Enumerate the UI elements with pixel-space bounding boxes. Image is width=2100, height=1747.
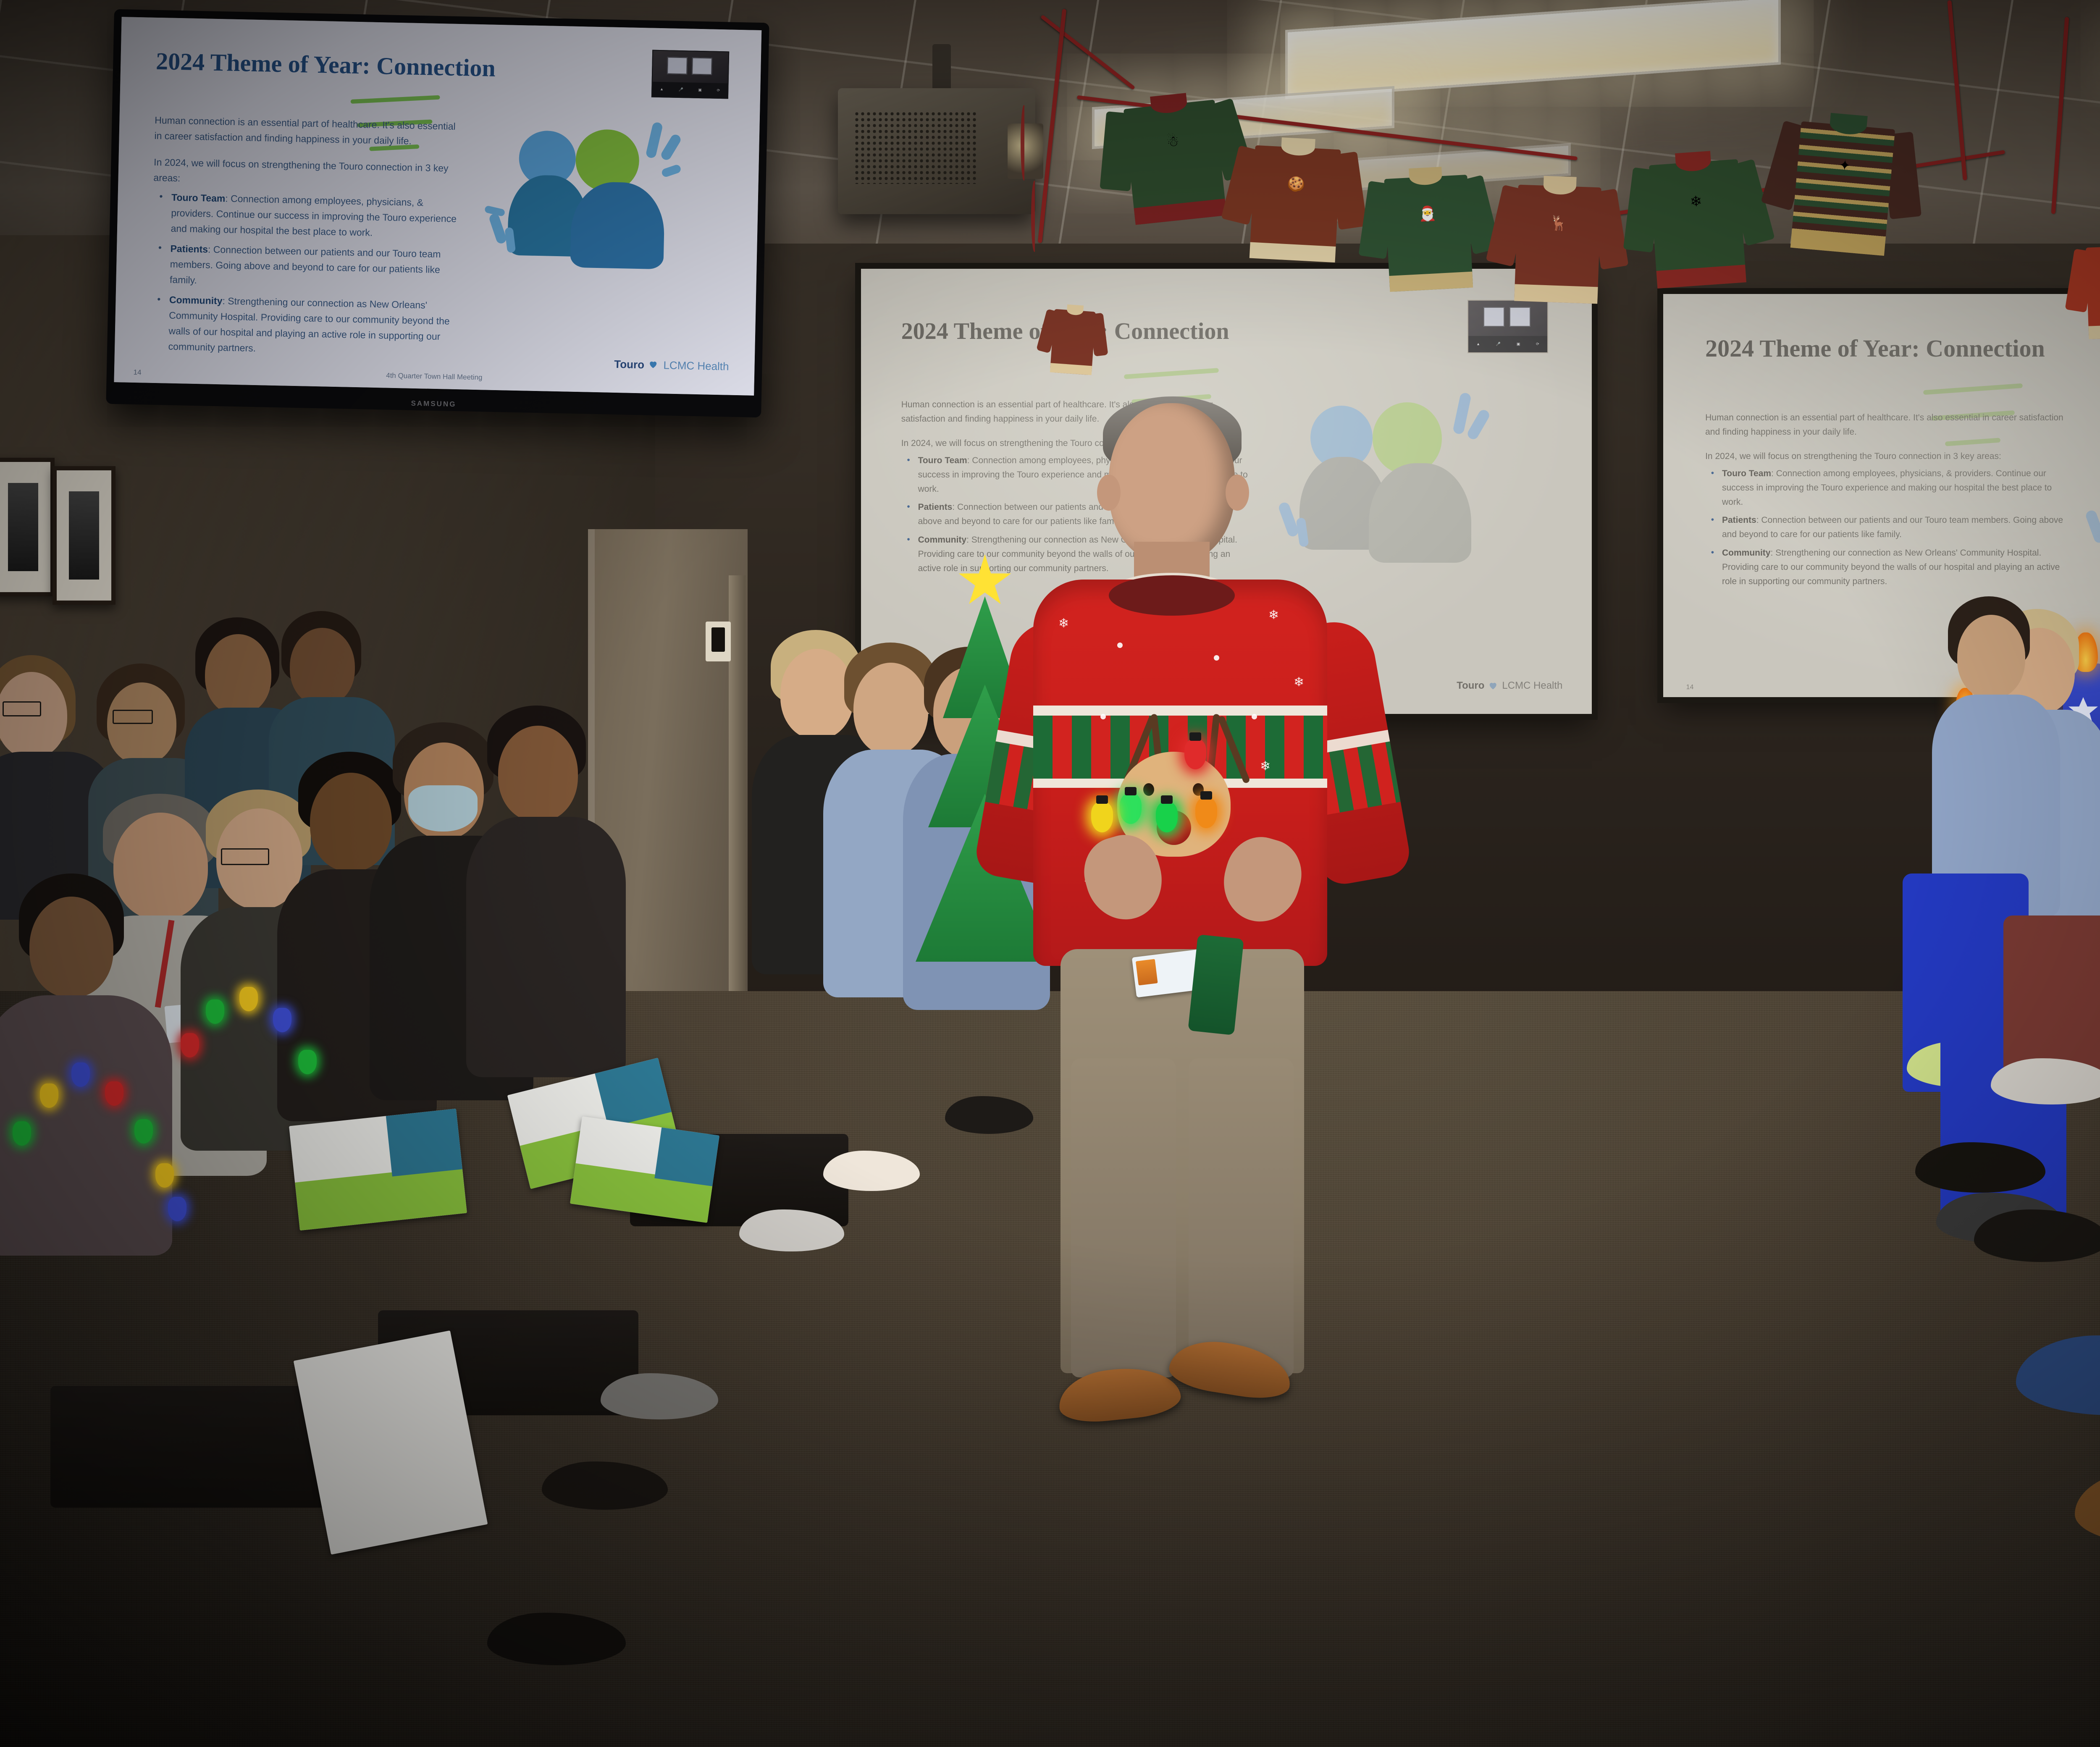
- heart-icon: [1488, 680, 1499, 691]
- touro-lcmc-logo: Touro LCMC Health: [614, 358, 729, 373]
- microphone-icon: 🎤: [1496, 342, 1501, 346]
- projector-vent: [854, 111, 976, 184]
- share-screen-icon: ⟳: [1536, 342, 1539, 346]
- eyeglasses: [113, 710, 153, 724]
- wall-portrait: [52, 466, 115, 605]
- christmas-light-bulb: [1195, 798, 1217, 828]
- ear: [1226, 475, 1249, 511]
- christmas-light-bulb: [1120, 794, 1142, 824]
- slide-lead-in: In 2024, we will focus on strengthening …: [153, 155, 461, 192]
- camera-icon: ▣: [1517, 342, 1520, 346]
- monitor-brand: SAMSUNG: [411, 399, 456, 409]
- touro-lcmc-logo: Touro LCMC Health: [1457, 680, 1562, 692]
- snowflake-icon: ❄: [1260, 760, 1270, 773]
- presenter-head: [1109, 403, 1235, 563]
- wall-monitor-left: SAMSUNG 2024 Theme of Year: Connection H…: [106, 9, 769, 417]
- christmas-light-bulb: [1156, 802, 1178, 832]
- logo-brand: Touro: [614, 358, 644, 371]
- vc-self-view: [653, 51, 728, 84]
- ceiling-projector: [838, 88, 1035, 214]
- slide-bullet: Patients: Connection between our patient…: [1709, 513, 2072, 542]
- vc-control-bar: ▲ 🎤 ▣ ⟳: [1468, 336, 1547, 352]
- vc-control-bar[interactable]: ▲ 🎤 ▣ ⟳: [652, 82, 728, 98]
- slide-title: 2024 Theme of Year: Connection: [1705, 334, 2045, 362]
- eyeglasses: [221, 848, 269, 865]
- eyeglasses: [3, 701, 41, 716]
- portrait-photo: [69, 491, 100, 580]
- presenter-sweater-collar: [1109, 575, 1235, 616]
- slide-bullet: Patients: Connection between our patient…: [155, 241, 459, 294]
- door-frame: [729, 575, 745, 1046]
- slide-body: Human connection is an essential part of…: [150, 113, 462, 365]
- christmas-light-necklace: [181, 983, 370, 1117]
- slide-bullet-list: Touro Team: Connection among employees, …: [154, 189, 460, 361]
- video-conference-thumbnail[interactable]: ▲ 🎤 ▣ ⟳: [651, 50, 729, 99]
- ear: [1097, 475, 1121, 511]
- monitor-screen: 2024 Theme of Year: Connection Human con…: [114, 17, 761, 396]
- chevron-up-icon: ▲: [1476, 342, 1480, 346]
- snowflake-icon: ❄: [1058, 617, 1069, 630]
- slide-intro: Human connection is an essential part of…: [154, 113, 462, 150]
- microphone-icon[interactable]: 🎤: [679, 88, 683, 92]
- slide-2024-theme-connection: 2024 Theme of Year: Connection Human con…: [114, 17, 761, 396]
- handout-flyer[interactable]: [289, 1109, 467, 1230]
- chevron-up-icon[interactable]: ▲: [660, 87, 664, 91]
- slide-number: 14: [133, 368, 141, 377]
- slide-intro: Human connection is an essential part of…: [1705, 411, 2072, 439]
- projector-lens: [1008, 123, 1043, 179]
- presenter: ❄ ❄ ❄ ❄ ❄: [983, 403, 1403, 1445]
- audience-member: [1932, 596, 2054, 915]
- slide-number: 14: [1686, 684, 1694, 691]
- video-conference-thumbnail: ▲ 🎤 ▣ ⟳: [1467, 300, 1548, 353]
- wall-outlet[interactable]: [706, 622, 731, 661]
- slide-bullet-list: Touro Team: Connection among employees, …: [1709, 467, 2072, 589]
- shoe: [1991, 1058, 2100, 1104]
- connection-people-icon: [507, 127, 676, 270]
- wall-portrait: [0, 458, 55, 596]
- high-heel-shoe: [1974, 1209, 2100, 1262]
- heart-icon: [648, 359, 660, 371]
- slide-title: 2024 Theme of Year: Connection: [156, 47, 496, 82]
- portrait-photo: [8, 483, 39, 572]
- share-screen-icon[interactable]: ⟳: [717, 89, 720, 92]
- slide-bullet: Touro Team: Connection among employees, …: [1709, 467, 2072, 509]
- camera-icon[interactable]: ▣: [698, 88, 702, 92]
- slide-title: 2024 Theme of Year: Connection: [901, 318, 1229, 345]
- slide-bullet: Community: Strengthening our connection …: [1709, 546, 2072, 589]
- slide-bullet: Community: Strengthening our connection …: [154, 292, 458, 361]
- logo-brand: Touro: [1457, 680, 1484, 692]
- presenter-trousers: [1060, 949, 1304, 1373]
- snowflake-icon: ❄: [1268, 609, 1279, 622]
- audience-member: [466, 706, 617, 1075]
- logo-system: LCMC Health: [663, 359, 729, 373]
- slide-body: Human connection is an essential part of…: [1705, 411, 2072, 593]
- slide-bullet: Touro Team: Connection among employees, …: [156, 189, 461, 243]
- vc-self-view: [1468, 301, 1547, 336]
- snowflake-icon: ❄: [1294, 676, 1304, 689]
- christmas-light-bulb: [1091, 802, 1113, 832]
- christmas-light-bulb: [1184, 739, 1206, 769]
- logo-system: LCMC Health: [1502, 680, 1562, 692]
- conference-room-scene: SAMSUNG 2024 Theme of Year: Connection H…: [0, 0, 2100, 1747]
- slide-lead-in: In 2024, we will focus on strengthening …: [1705, 449, 2072, 464]
